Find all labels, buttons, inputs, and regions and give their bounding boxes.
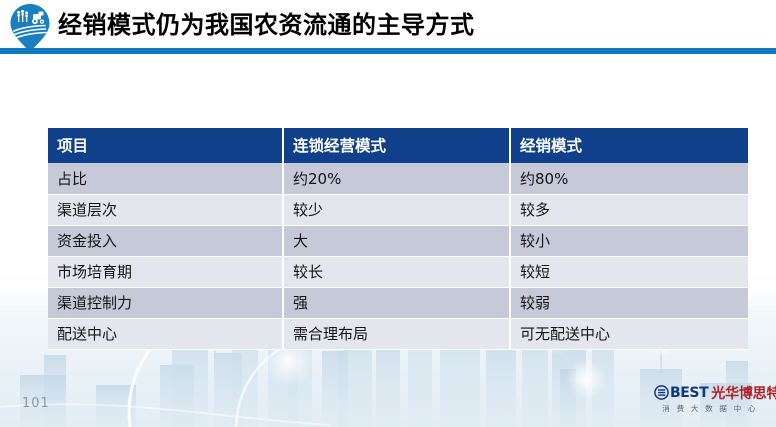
table-row: 占比 约20% 约80% (48, 164, 748, 195)
column-header-chain: 连锁经营模式 (283, 128, 510, 164)
cell-dealer: 较短 (510, 257, 748, 288)
cell-dealer: 较小 (510, 226, 748, 257)
cell-item: 资金投入 (48, 226, 283, 257)
cell-dealer: 约80% (510, 164, 748, 195)
header-accent-bar (0, 48, 776, 54)
column-header-item: 项目 (48, 128, 283, 164)
table-row: 市场培育期 较长 较短 (48, 257, 748, 288)
brand-name-cn: 光华博思特 (711, 383, 776, 403)
page-number: 101 (22, 396, 50, 411)
cell-dealer: 较多 (510, 195, 748, 226)
table-row: 渠道控制力 强 较弱 (48, 288, 748, 319)
slide-header: 经销模式仍为我国农资流通的主导方式 (0, 0, 776, 54)
table-row: 资金投入 大 较小 (48, 226, 748, 257)
cell-chain: 较长 (283, 257, 510, 288)
brand-logo: BEST 光华博思特 消 费 大 数 据 中 心 (654, 383, 766, 417)
farm-location-pin-icon (8, 3, 52, 53)
brand-logo-row: BEST 光华博思特 (654, 383, 766, 402)
brand-subtitle: 消 费 大 数 据 中 心 (654, 403, 766, 414)
cell-item: 占比 (48, 164, 283, 195)
cell-item: 渠道控制力 (48, 288, 283, 319)
cell-dealer: 可无配送中心 (510, 319, 748, 350)
page-title: 经销模式仍为我国农资流通的主导方式 (58, 7, 475, 43)
cell-chain: 强 (283, 288, 510, 319)
cell-chain: 约20% (283, 164, 510, 195)
cell-dealer: 较弱 (510, 288, 748, 319)
cell-chain: 需合理布局 (283, 319, 510, 350)
cell-item: 渠道层次 (48, 195, 283, 226)
brand-name: BEST (670, 385, 708, 401)
comparison-table: 项目 连锁经营模式 经销模式 占比 约20% 约80% 渠道层次 较少 较多 资… (48, 128, 748, 350)
best-emblem-icon (654, 385, 669, 400)
table-header-row: 项目 连锁经营模式 经销模式 (48, 128, 748, 164)
slide-canvas: 经销模式仍为我国农资流通的主导方式 项目 连锁经营模式 经销模式 占比 约20%… (0, 0, 776, 427)
table-row: 配送中心 需合理布局 可无配送中心 (48, 319, 748, 350)
cell-item: 市场培育期 (48, 257, 283, 288)
cell-chain: 较少 (283, 195, 510, 226)
cell-chain: 大 (283, 226, 510, 257)
cell-item: 配送中心 (48, 319, 283, 350)
column-header-dealer: 经销模式 (510, 128, 748, 164)
table-row: 渠道层次 较少 较多 (48, 195, 748, 226)
